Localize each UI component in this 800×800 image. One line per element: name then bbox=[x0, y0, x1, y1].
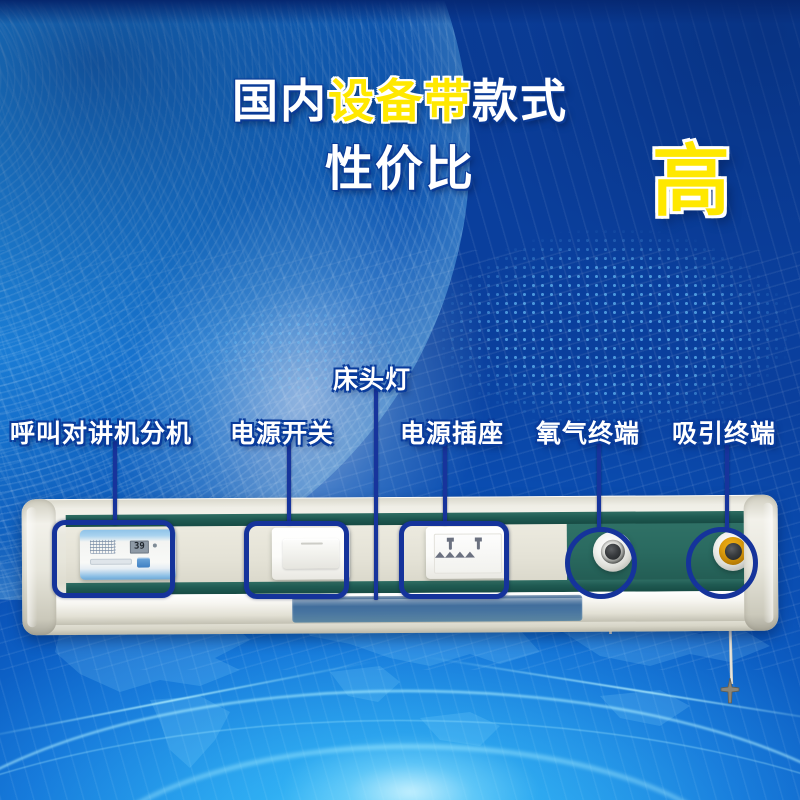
leader-line-suction bbox=[725, 441, 729, 530]
highlight-box-power-socket bbox=[399, 521, 509, 599]
callout-label-power-switch: 电源开关 bbox=[230, 414, 334, 450]
leader-line-power-switch bbox=[287, 441, 291, 525]
callout-label-oxygen: 氧气终端 bbox=[536, 414, 640, 450]
highlight-box-intercom bbox=[52, 520, 175, 598]
highlight-circle-oxygen bbox=[565, 527, 637, 599]
leader-line-oxygen bbox=[597, 441, 601, 530]
leader-line-power-socket bbox=[443, 441, 447, 525]
callout-label-suction: 吸引终端 bbox=[672, 414, 776, 450]
callout-label-power-socket: 电源插座 bbox=[400, 414, 504, 450]
product-banner: 国内设备带款式 性价比 高 呼叫对讲机分机 电源开关 床头灯 电源插座 氧气终端… bbox=[0, 0, 800, 800]
leader-line-bed-lamp bbox=[374, 389, 378, 600]
highlight-box-power-switch bbox=[244, 521, 349, 599]
cable-connector-plug-icon bbox=[719, 678, 741, 704]
panel-rail-glass-strip bbox=[292, 595, 582, 623]
highlight-circle-suction bbox=[686, 527, 758, 599]
corner-vignette bbox=[0, 0, 800, 800]
leader-line-intercom bbox=[113, 441, 117, 525]
callout-label-bed-lamp: 床头灯 bbox=[333, 360, 411, 396]
callout-label-intercom: 呼叫对讲机分机 bbox=[10, 414, 192, 450]
